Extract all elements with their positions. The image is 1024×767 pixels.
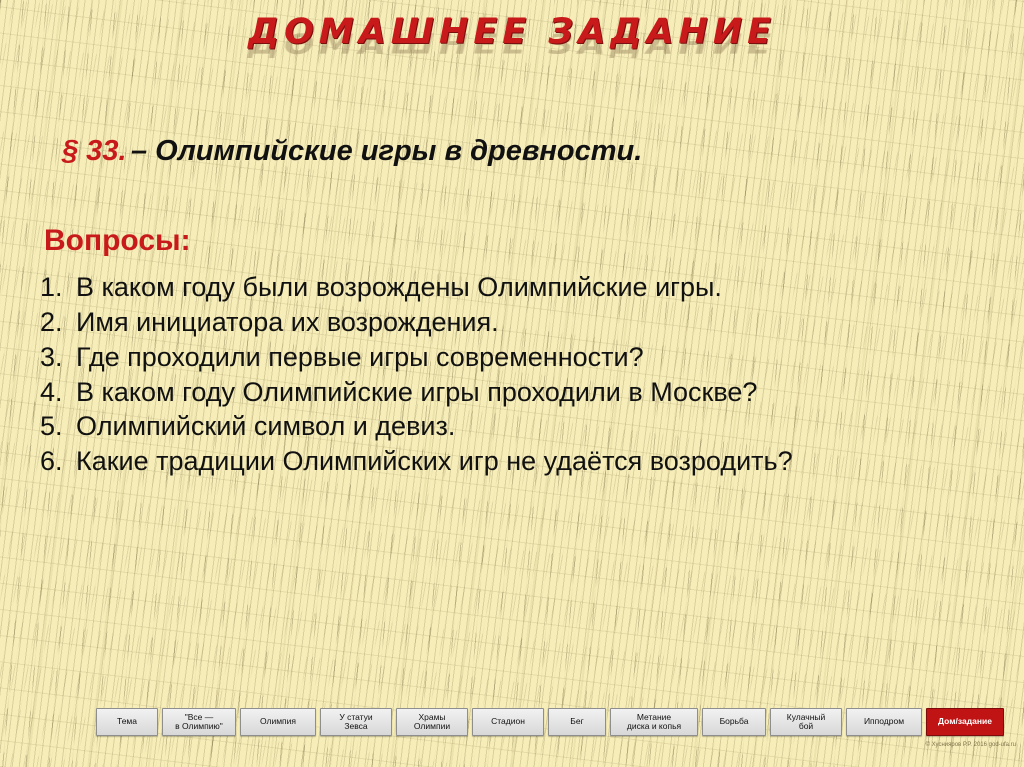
author-credit: © Хуснияров Р.Р. 2016 god-ufa.ru xyxy=(926,742,1016,748)
nav-button-vse-v-olimpiyu[interactable]: "Все — в Олимпию" xyxy=(162,708,236,736)
nav-button-olimpiya[interactable]: Олимпия xyxy=(240,708,316,736)
question-text: Имя инициатора их возрождения. xyxy=(72,307,980,339)
nav-button-dom-zadanie[interactable]: Дом/задание xyxy=(926,708,1004,736)
question-text: Олимпийский символ и девиз. xyxy=(72,411,980,443)
nav-button-tema[interactable]: Тема xyxy=(96,708,158,736)
list-item: 5. Олимпийский символ и девиз. xyxy=(40,411,980,443)
slide-title: ДОМАШНЕЕ ЗАДАНИЕ xyxy=(0,14,1024,51)
list-item: 3. Где проходили первые игры современнос… xyxy=(40,342,980,374)
slide-content: ДОМАШНЕЕ ЗАДАНИЕ ДОМАШНЕЕ ЗАДАНИЕ § 33. … xyxy=(0,0,1024,767)
nav-button-stadion[interactable]: Стадион xyxy=(472,708,544,736)
paragraph-title: – Олимпийские игры в древности. xyxy=(131,135,642,167)
list-item: 6. Какие традиции Олимпийских игр не уда… xyxy=(40,446,980,478)
question-number: 1. xyxy=(40,272,72,304)
nav-button-kulachnyy-boy[interactable]: Кулачный бой xyxy=(770,708,842,736)
list-item: 4. В каком году Олимпийские игры проходи… xyxy=(40,377,980,409)
list-item: 2. Имя инициатора их возрождения. xyxy=(40,307,980,339)
slide-navigation-bar[interactable]: Тема "Все — в Олимпию" Олимпия У статуи … xyxy=(96,708,932,736)
question-text: Какие традиции Олимпийских игр не удаётс… xyxy=(72,446,980,478)
paragraph-heading: § 33. – Олимпийские игры в древности. xyxy=(62,135,962,168)
nav-button-borba[interactable]: Борьба xyxy=(702,708,766,736)
question-number: 4. xyxy=(40,377,72,409)
slide-title-wrap: ДОМАШНЕЕ ЗАДАНИЕ xyxy=(0,14,1024,51)
nav-button-hramy-olimpii[interactable]: Храмы Олимпии xyxy=(396,708,468,736)
question-text: Где проходили первые игры современности? xyxy=(72,342,980,374)
questions-label: Вопросы: xyxy=(44,224,191,258)
paragraph-number: § 33. xyxy=(62,135,127,167)
nav-button-beg[interactable]: Бег xyxy=(548,708,606,736)
questions-list: 1. В каком году были возрождены Олимпийс… xyxy=(40,272,980,481)
question-text: В каком году Олимпийские игры проходили … xyxy=(72,377,980,409)
question-number: 5. xyxy=(40,411,72,443)
question-number: 6. xyxy=(40,446,72,478)
question-number: 2. xyxy=(40,307,72,339)
nav-button-metanie-diska-i-kopya[interactable]: Метание диска и копья xyxy=(610,708,698,736)
nav-button-u-statui-zevsa[interactable]: У статуи Зевса xyxy=(320,708,392,736)
list-item: 1. В каком году были возрождены Олимпийс… xyxy=(40,272,980,304)
question-number: 3. xyxy=(40,342,72,374)
question-text: В каком году были возрождены Олимпийские… xyxy=(72,272,980,304)
nav-button-ippodrom[interactable]: Ипподром xyxy=(846,708,922,736)
